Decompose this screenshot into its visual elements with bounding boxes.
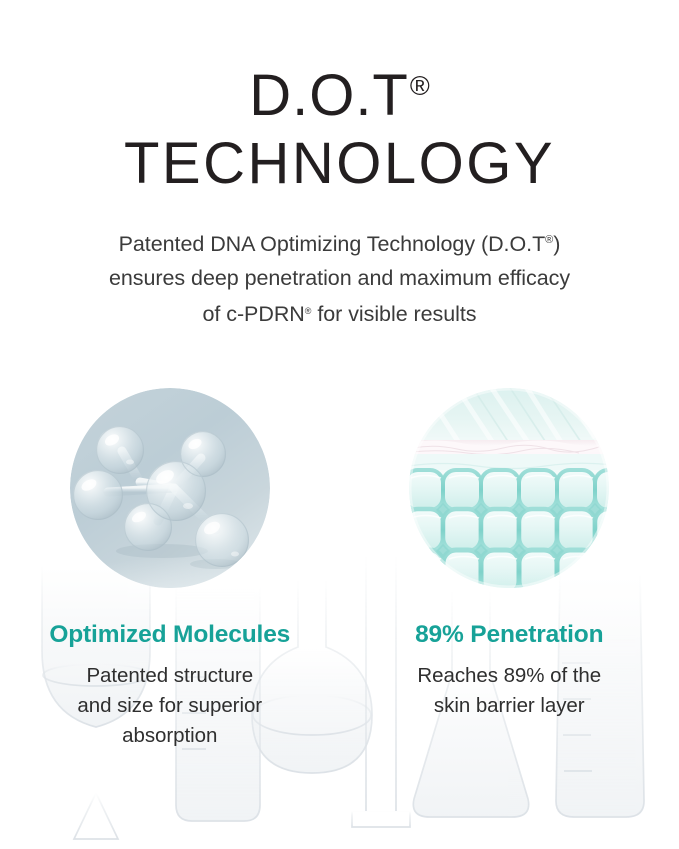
subtitle: Patented DNA Optimizing Technology (D.O.… bbox=[40, 224, 640, 332]
dot-technology-infographic: D.O.T® TECHNOLOGY Patented DNA Optimizin… bbox=[0, 0, 679, 849]
subtitle-line-3-text-a: of c-PDRN bbox=[202, 302, 304, 326]
page-title: D.O.T® TECHNOLOGY bbox=[0, 52, 679, 198]
penetration-image bbox=[409, 388, 609, 588]
title-line-dot: D.O.T® bbox=[0, 52, 679, 130]
subtitle-line-1: Patented DNA Optimizing Technology (D.O.… bbox=[40, 224, 640, 262]
registered-trademark-icon: ® bbox=[545, 234, 553, 246]
optimized-molecules-image bbox=[70, 388, 270, 588]
registered-trademark-icon: ® bbox=[305, 306, 312, 316]
subtitle-line-3-text-b: for visible results bbox=[311, 302, 476, 326]
feature-heading-optimized-molecules: Optimized Molecules bbox=[49, 620, 290, 650]
registered-trademark-icon: ® bbox=[410, 71, 430, 101]
feature-body-line: and size for superior bbox=[77, 691, 262, 721]
feature-body-line: Reaches 89% of the bbox=[417, 661, 601, 691]
feature-body-line: Patented structure bbox=[77, 661, 262, 691]
feature-optimized-molecules: Optimized Molecules Patented structure a… bbox=[0, 388, 340, 751]
feature-penetration: 89% Penetration Reaches 89% of the skin … bbox=[340, 388, 679, 751]
subtitle-line-2: ensures deep penetration and maximum eff… bbox=[40, 262, 640, 296]
feature-heading-penetration: 89% Penetration bbox=[415, 620, 603, 650]
title-text-dot: D.O.T bbox=[249, 63, 409, 128]
feature-body-penetration: Reaches 89% of the skin barrier layer bbox=[417, 661, 601, 721]
subtitle-line-1-text-a: Patented DNA Optimizing Technology (D.O.… bbox=[119, 232, 546, 256]
feature-row: Optimized Molecules Patented structure a… bbox=[0, 388, 679, 751]
feature-body-optimized-molecules: Patented structure and size for superior… bbox=[77, 661, 262, 751]
feature-body-line: absorption bbox=[77, 721, 262, 751]
subtitle-line-3: of c-PDRN® for visible results bbox=[40, 295, 640, 332]
title-line-technology: TECHNOLOGY bbox=[0, 130, 679, 198]
feature-body-line: skin barrier layer bbox=[417, 691, 601, 721]
subtitle-line-1-text-b: ) bbox=[553, 232, 560, 256]
